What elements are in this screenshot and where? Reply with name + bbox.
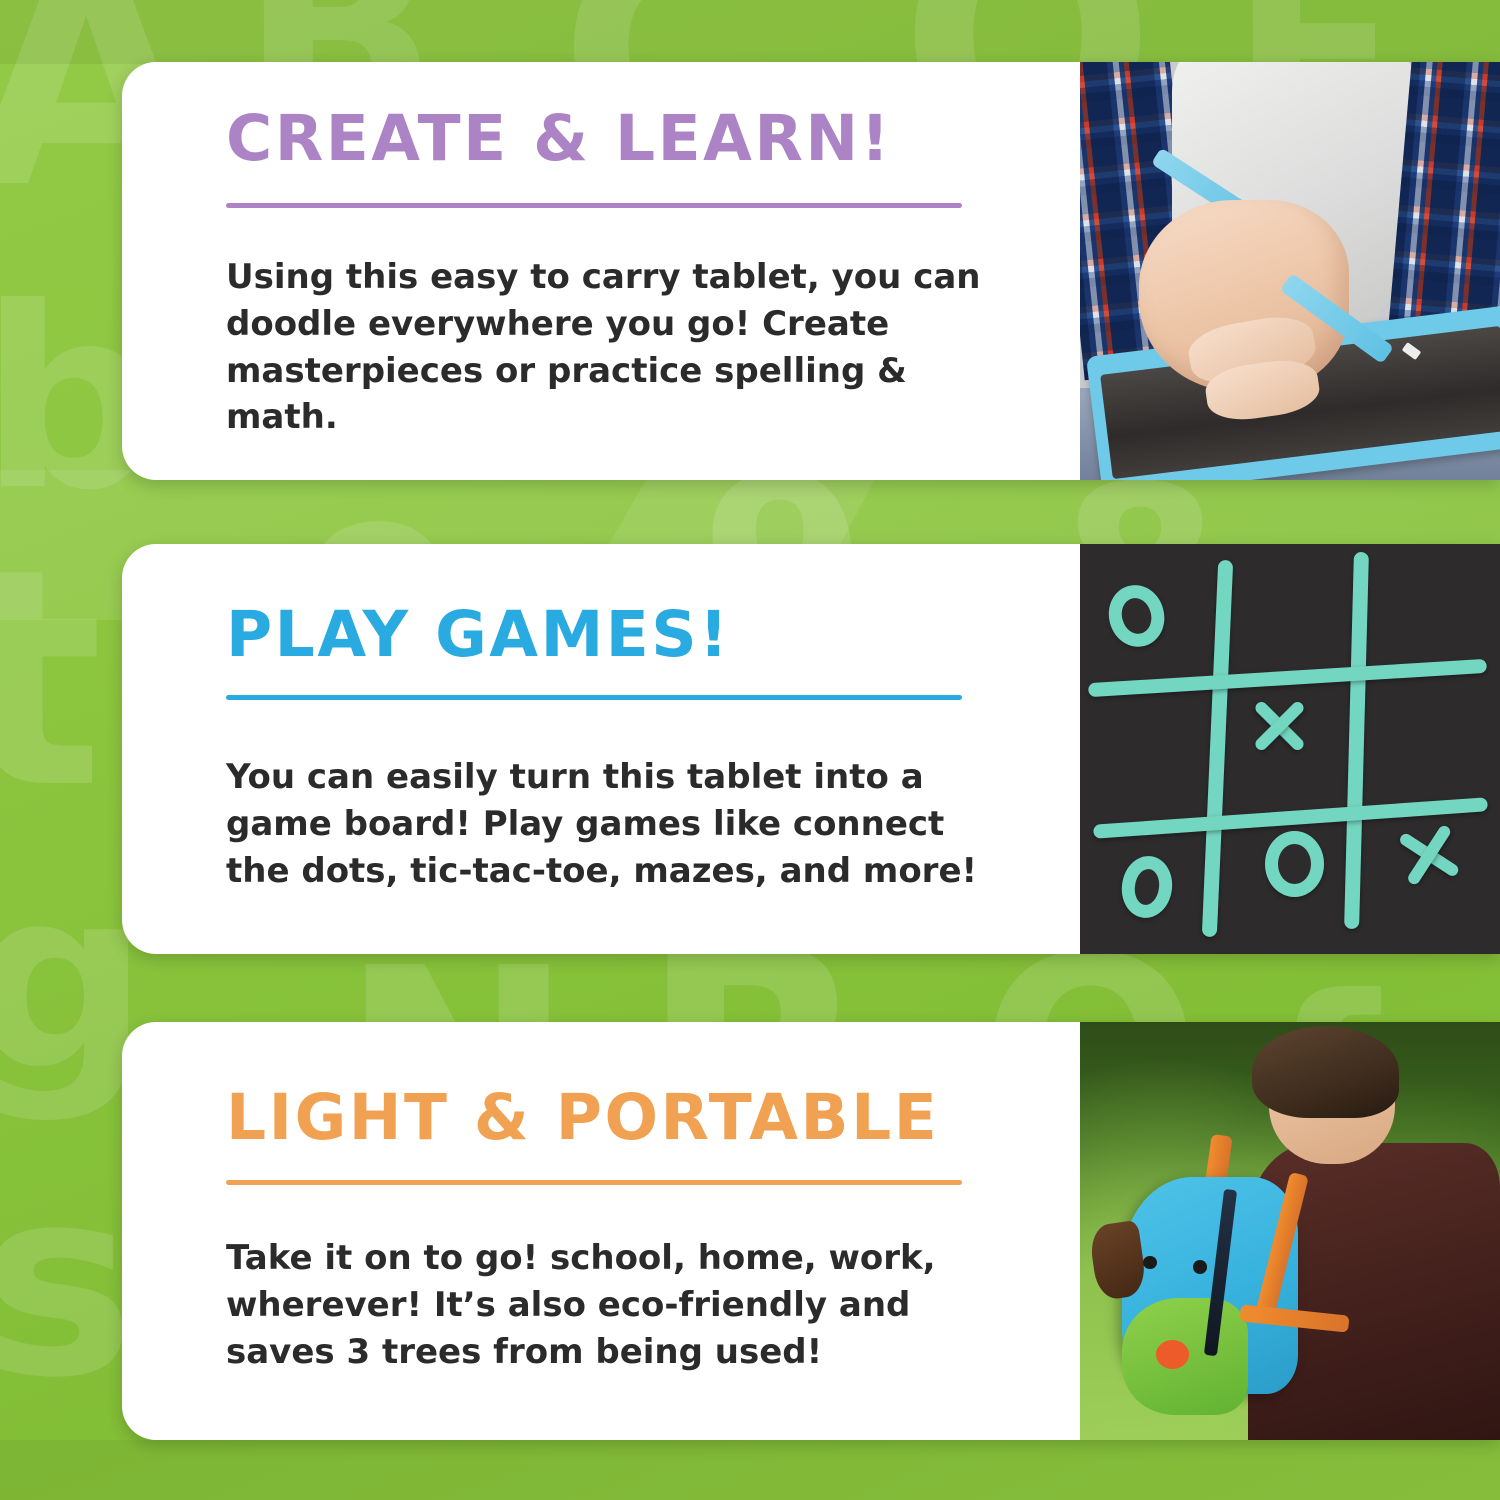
ttt-vertical-line-2 [1344,552,1369,929]
backpack-nose [1156,1340,1190,1369]
feature-cards-graphic: A B C O E b t g s N R O f e 9 8 a o CREA… [0,0,1500,1500]
card-divider [226,1180,962,1185]
backpack-eye-right [1193,1260,1207,1273]
feature-card-light-and-portable: LIGHT & PORTABLE Take it on to go! schoo… [122,1022,1500,1440]
card-title: CREATE & LEARN! [226,107,1080,170]
ttt-o-top-left [1102,579,1171,653]
tic-tac-toe-board [1080,544,1500,954]
card-photo-create-and-learn [1080,62,1500,480]
card-title: PLAY GAMES! [226,603,1080,666]
ttt-o-bottom-center [1265,831,1324,897]
card-text-block: PLAY GAMES! You can easily turn this tab… [122,544,1080,954]
background-shade-1 [0,0,1500,64]
ttt-x-right [1388,808,1469,894]
card-photo-play-games [1080,544,1500,954]
card-text-block: LIGHT & PORTABLE Take it on to go! schoo… [122,1022,1080,1440]
card-text-block: CREATE & LEARN! Using this easy to carry… [122,62,1080,480]
card-title: LIGHT & PORTABLE [226,1086,1080,1149]
feature-card-create-and-learn: CREATE & LEARN! Using this easy to carry… [122,62,1500,480]
boy-hair [1252,1026,1399,1118]
card-photo-light-and-portable [1080,1022,1500,1440]
ttt-x-center [1248,692,1311,754]
card-divider [226,203,962,208]
ttt-o-bottom-left [1118,852,1176,920]
card-body-text: Using this easy to carry tablet, you can… [226,254,1016,442]
card-divider [226,695,962,700]
ttt-vertical-line-1 [1202,560,1234,937]
feature-card-play-games: PLAY GAMES! You can easily turn this tab… [122,544,1500,954]
card-body-text: You can easily turn this tablet into a g… [226,754,1016,895]
background-shade-2 [0,1440,1500,1500]
card-body-text: Take it on to go! school, home, work, wh… [226,1235,1016,1376]
